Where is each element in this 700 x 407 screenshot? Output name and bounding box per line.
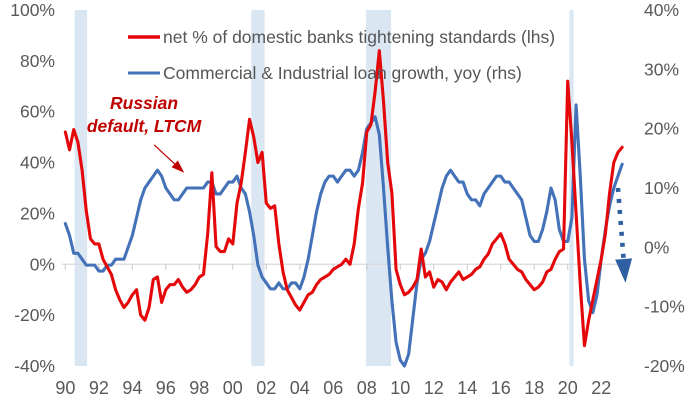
x-axis-tick-label: 16 xyxy=(491,378,511,398)
x-axis-tick-label: 90 xyxy=(55,378,75,398)
y-axis-left-tick-label: 100% xyxy=(10,0,55,20)
x-axis-tick-label: 04 xyxy=(290,378,310,398)
y-axis-left-tick-label: 60% xyxy=(20,102,55,122)
x-axis-tick-label: 14 xyxy=(457,378,477,398)
chart-container: 100%80%60%40%20%0%-20%-40% 40%30%20%10%0… xyxy=(0,0,700,407)
x-axis-tick-label: 18 xyxy=(524,378,544,398)
y-axis-left-tick-label: -40% xyxy=(14,356,55,376)
y-axis-left-labels: 100%80%60%40%20%0%-20%-40% xyxy=(10,0,55,376)
x-axis-tick-label: 96 xyxy=(156,378,176,398)
y-axis-right-tick-label: 30% xyxy=(644,59,679,79)
y-axis-right-labels: 40%30%20%10%0%-10%-20% xyxy=(644,0,685,376)
y-axis-right-tick-label: 0% xyxy=(644,237,669,257)
x-axis-tick-label: 02 xyxy=(256,378,276,398)
annotation-arrow-line xyxy=(154,145,177,166)
gridlines-and-axis xyxy=(62,264,628,270)
y-axis-right-tick-label: -20% xyxy=(644,356,685,376)
forecast-arrow-head xyxy=(615,258,632,283)
x-axis-tick-label: 08 xyxy=(357,378,377,398)
annotation-forecast-arrow xyxy=(615,188,632,283)
y-axis-left-tick-label: -20% xyxy=(14,305,55,325)
legend-label: net % of domestic banks tightening stand… xyxy=(163,27,555,47)
x-axis-tick-label: 94 xyxy=(122,378,142,398)
x-axis-tick-label: 06 xyxy=(323,378,343,398)
y-axis-left-tick-label: 0% xyxy=(30,254,55,274)
x-axis-tick-label: 10 xyxy=(390,378,410,398)
forecast-arrow-line xyxy=(618,188,624,259)
y-axis-right-tick-label: 10% xyxy=(644,178,679,198)
annotation-russian-default: Russiandefault, LTCM xyxy=(87,93,202,173)
y-axis-right-tick-label: 40% xyxy=(644,0,679,20)
legend: net % of domestic banks tightening stand… xyxy=(128,27,555,83)
series-line-ci-loan-growth xyxy=(65,105,622,366)
y-axis-left-tick-label: 80% xyxy=(20,51,55,71)
y-axis-right-tick-label: -10% xyxy=(644,297,685,317)
legend-label: Commercial & Industrial loan growth, yoy… xyxy=(163,63,522,83)
annotation-label-line1: Russian xyxy=(110,93,178,113)
x-axis-tick-label: 98 xyxy=(189,378,209,398)
x-axis-tick-label: 22 xyxy=(591,378,611,398)
y-axis-right-tick-label: 20% xyxy=(644,119,679,139)
y-axis-left-tick-label: 40% xyxy=(20,153,55,173)
y-axis-left-tick-label: 20% xyxy=(20,203,55,223)
x-axis-tick-label: 00 xyxy=(223,378,243,398)
dual-axis-line-chart: 100%80%60%40%20%0%-20%-40% 40%30%20%10%0… xyxy=(0,0,700,407)
x-axis-labels: 9092949698000204060810121416182022 xyxy=(55,378,611,398)
annotation-label-line2: default, LTCM xyxy=(87,116,202,136)
x-axis-tick-label: 20 xyxy=(558,378,578,398)
x-axis-tick-label: 92 xyxy=(89,378,109,398)
x-axis-tick-label: 12 xyxy=(424,378,444,398)
